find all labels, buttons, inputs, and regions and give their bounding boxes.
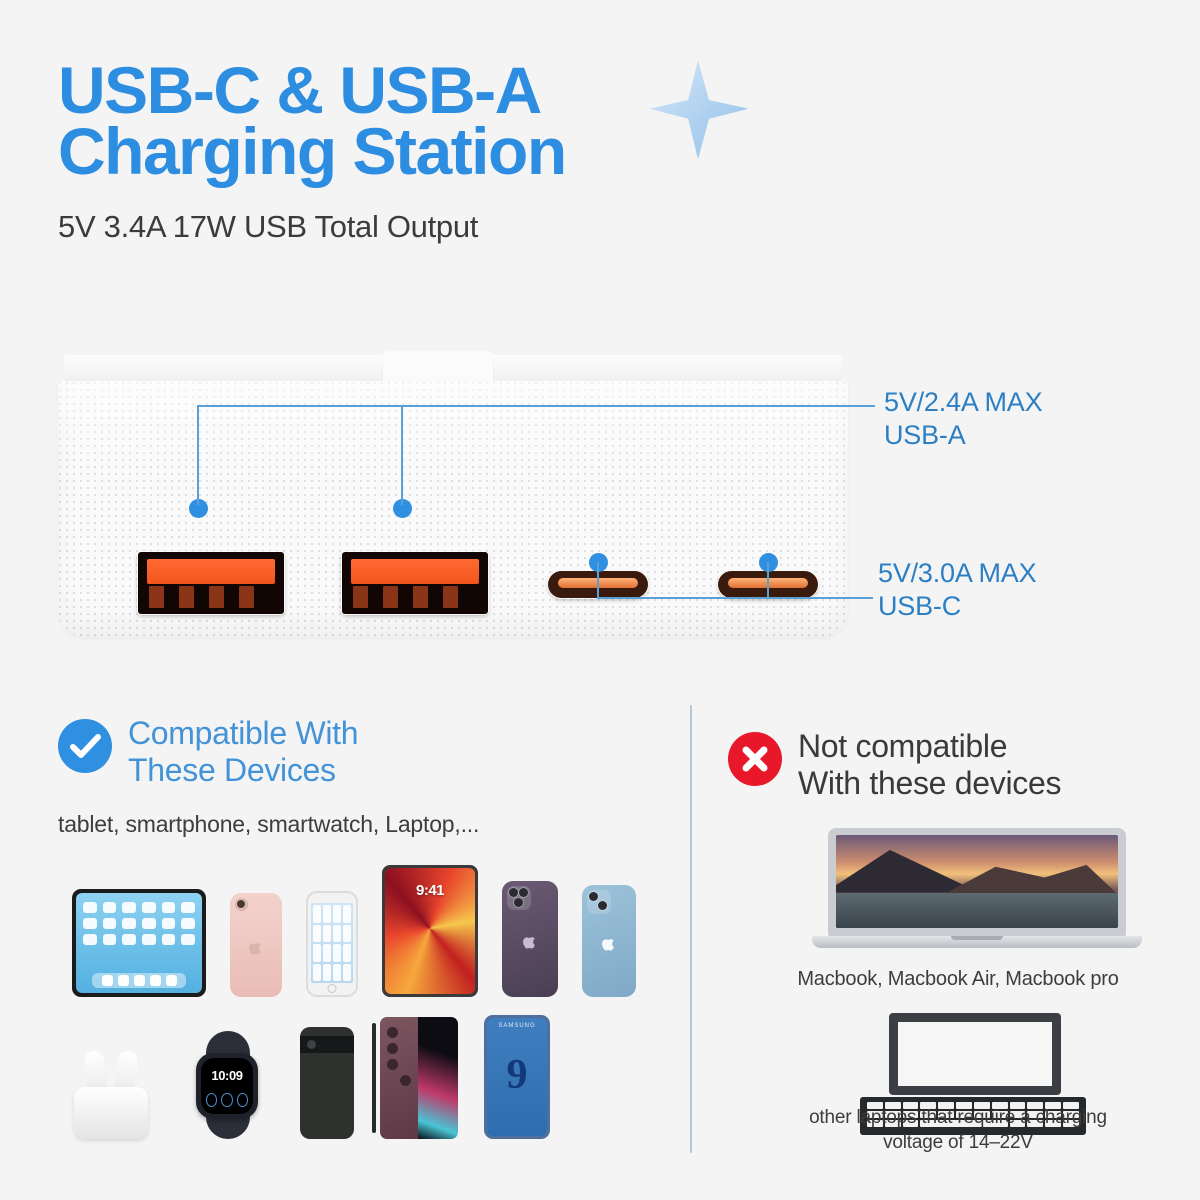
home-button [328, 984, 337, 993]
charging-station [58, 355, 848, 655]
callout-usb-a-line1: 5V/2.4A MAX [884, 386, 1042, 419]
page-title: USB-C & USB-A Charging Station [58, 60, 818, 183]
watch-face: 10:09 [201, 1058, 253, 1114]
usb-a-port-2 [342, 552, 488, 614]
usb-c-pointer-dot-2 [759, 553, 778, 572]
station-body [58, 381, 848, 637]
headline-block: USB-C & USB-A Charging Station 5V 3.4A 1… [58, 60, 818, 245]
galaxy-s9-logo: 9 [487, 1051, 547, 1099]
galaxy-back-panel [380, 1017, 418, 1139]
compatible-devices-text: tablet, smartphone, smartwatch, Laptop,.… [58, 811, 668, 838]
device-row-2: 10:09 SAMSUNG 9 [66, 1015, 550, 1139]
samsung-brand-text: SAMSUNG [487, 1023, 547, 1029]
macbook-caption: Macbook, Macbook Air, Macbook pro [728, 968, 1188, 991]
title-line-2: Charging Station [58, 114, 566, 188]
compatible-panel: Compatible With These Devices tablet, sm… [58, 715, 668, 838]
usb-a-port-1 [138, 552, 284, 614]
apple-watch: 10:09 [182, 1031, 274, 1139]
galaxy-s9: SAMSUNG 9 [484, 1015, 550, 1139]
airpods-charging-case [74, 1087, 148, 1139]
usb-a-leader-vertical-1 [197, 405, 199, 505]
macbook-screen-wallpaper [836, 835, 1118, 928]
usb-c-leader-vertical-2 [767, 562, 769, 598]
iphone-rose-gold [230, 893, 282, 997]
laptop-caption-line2: voltage of 14–22V [728, 1131, 1188, 1156]
iphone-purple [502, 881, 558, 997]
pixel-phone [300, 1027, 354, 1139]
iphone-white-front [306, 891, 358, 997]
usb-a-pointer-dot-1 [189, 499, 208, 518]
macbook-lid [828, 828, 1126, 936]
usb-a-pins [147, 586, 275, 608]
apple-logo-icon [248, 938, 264, 956]
apple-logo-icon [601, 934, 617, 952]
callout-usb-a-line2: USB-A [884, 419, 1042, 452]
apple-logo-icon [522, 932, 538, 950]
laptop-caption: other laptops that require a charging vo… [728, 1106, 1188, 1155]
usb-a-tongue [351, 559, 479, 584]
ipad-tablet [72, 889, 206, 997]
product-illustration: 5V/2.4A MAX USB-A 5V/3.0A MAX USB-C [0, 330, 1200, 670]
usb-a-pointer-dot-2 [393, 499, 412, 518]
airpods-case [66, 1047, 156, 1139]
ipad-pro-screen-time: 9:41 [385, 882, 475, 899]
callout-usb-a: 5V/2.4A MAX USB-A [884, 386, 1042, 452]
device-row-1: 9:41 [72, 865, 636, 997]
usb-a-tongue [147, 559, 275, 584]
usb-a-leader-vertical-2 [401, 405, 403, 505]
macbook-image [828, 828, 1126, 948]
not-compatible-panel: Not compatible With these devices Macboo… [728, 728, 1188, 802]
check-circle-icon [58, 719, 112, 773]
usb-a-pins [351, 586, 479, 608]
compatible-heading-line2: These Devices [128, 752, 358, 789]
compatible-heading-line1: Compatible With [128, 715, 358, 752]
x-circle-icon [728, 732, 782, 786]
usb-c-leader-horizontal [597, 597, 873, 599]
callout-usb-c-line2: USB-C [878, 590, 1036, 623]
callout-usb-c-line1: 5V/3.0A MAX [878, 557, 1036, 590]
usb-c-leader-vertical-1 [597, 562, 599, 598]
watch-screen-time: 10:09 [201, 1068, 253, 1083]
not-compatible-heading: Not compatible With these devices [798, 728, 1061, 802]
usb-c-pointer-dot-1 [589, 553, 608, 572]
watch-case: 10:09 [196, 1053, 258, 1119]
camera-bar [300, 1036, 354, 1053]
ipad-pro: 9:41 [382, 865, 478, 997]
iphone-blue [582, 885, 636, 997]
compatible-heading: Compatible With These Devices [128, 715, 358, 789]
laptop-caption-line1: other laptops that require a charging [728, 1106, 1188, 1131]
camera-module [587, 890, 611, 914]
callout-usb-c: 5V/3.0A MAX USB-C [878, 557, 1036, 623]
laptop-screen [889, 1013, 1061, 1095]
not-compatible-heading-line1: Not compatible [798, 728, 1061, 765]
camera-module [507, 886, 531, 910]
not-compatible-heading-line2: With these devices [798, 765, 1061, 802]
galaxy-front-screen [418, 1017, 458, 1139]
galaxy-s22-ultra [380, 1017, 458, 1139]
page-subtitle: 5V 3.4A 17W USB Total Output [58, 209, 818, 245]
s-pen-stylus [372, 1023, 376, 1133]
usb-a-leader-horizontal [197, 405, 875, 407]
panel-divider [690, 705, 692, 1153]
macbook-base [812, 936, 1142, 948]
